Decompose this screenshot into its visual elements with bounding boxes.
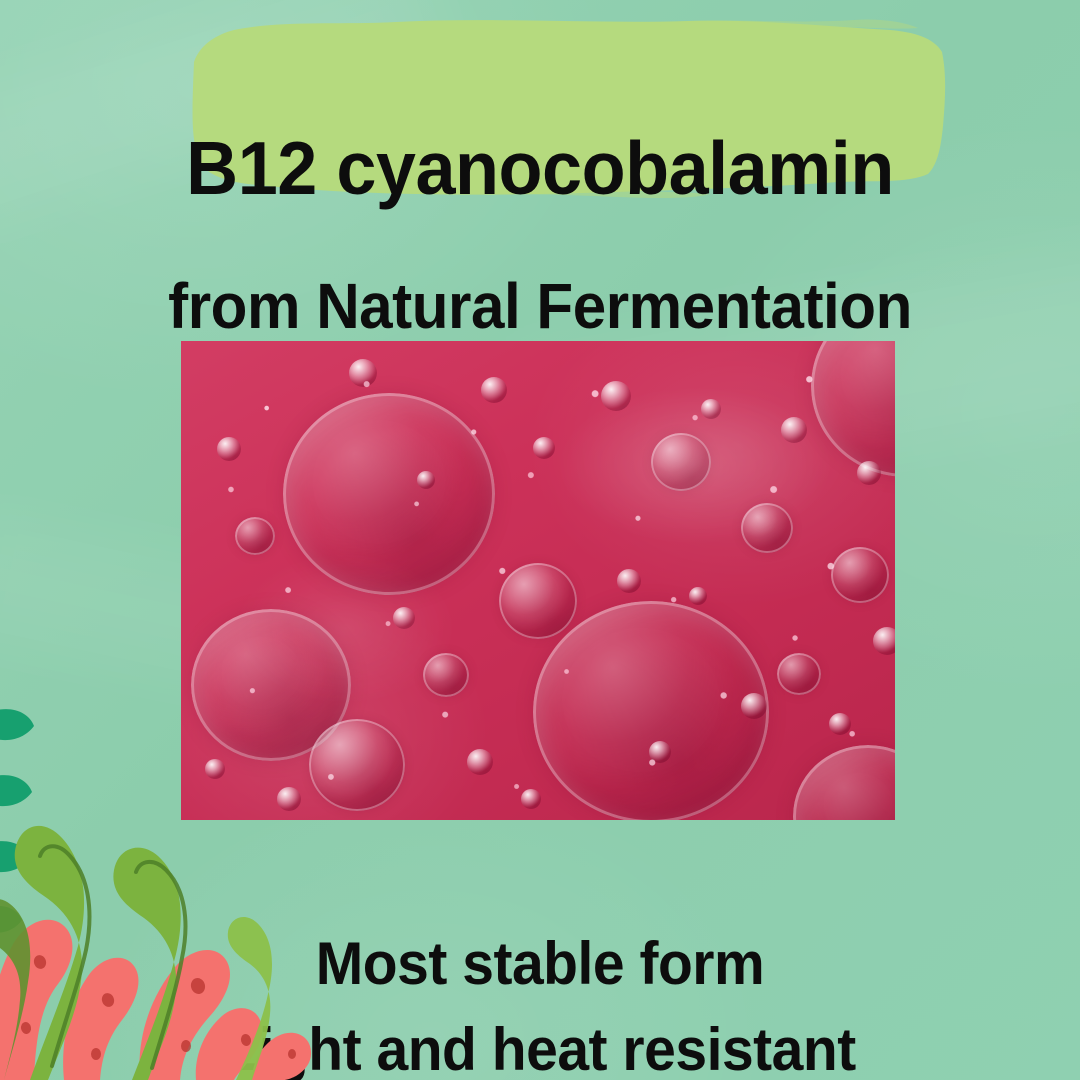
photo-sheen-overlay	[181, 341, 895, 820]
claim-line-light-heat-resistant: Light and heat resistant	[27, 1012, 1053, 1080]
page-title: B12 cyanocobalamin	[22, 122, 1059, 214]
claim-line-most-stable: Most stable form	[27, 926, 1053, 1002]
poster-canvas: B12 cyanocobalamin from Natural Fermenta…	[0, 0, 1080, 1080]
page-subtitle: from Natural Fermentation	[32, 265, 1047, 347]
hero-photo	[181, 341, 895, 820]
